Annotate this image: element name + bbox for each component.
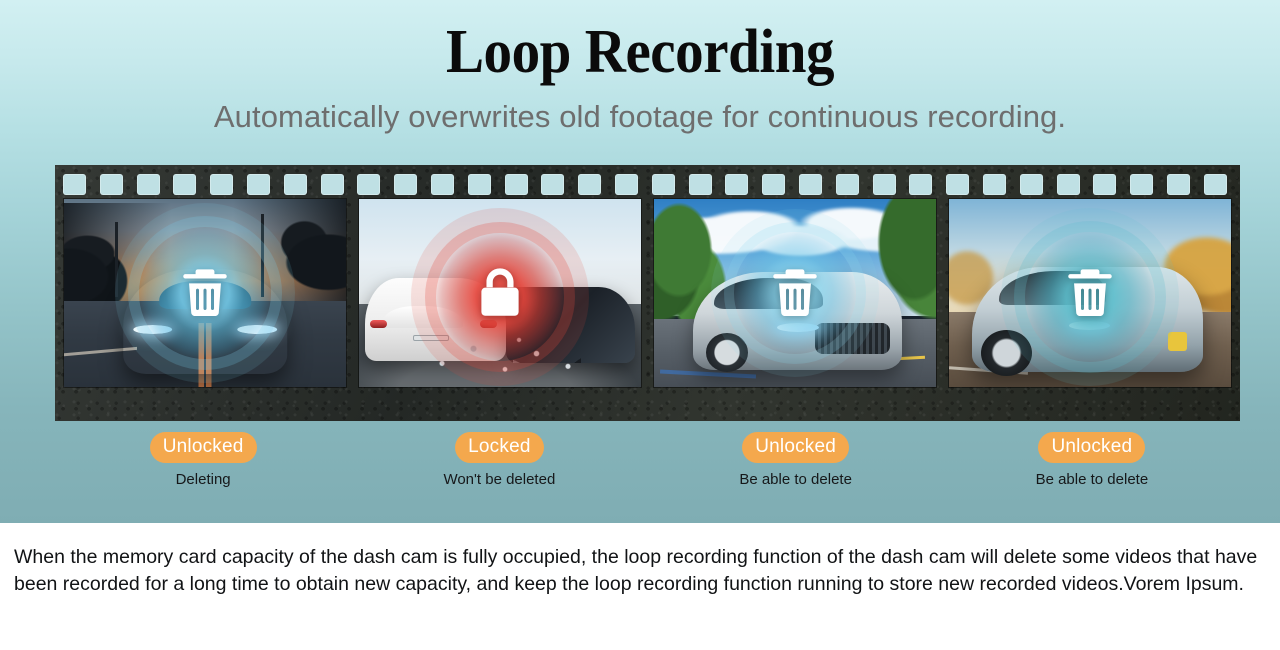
sprocket-hole <box>762 174 785 195</box>
sprocket-hole <box>725 174 748 195</box>
film-frame-1[interactable] <box>64 199 346 387</box>
headlight-right <box>238 325 277 334</box>
page-title: Loop Recording <box>51 18 1229 86</box>
lock-icon <box>470 263 530 323</box>
loop-recording-infographic: Loop Recording Automatically overwrites … <box>0 0 1280 650</box>
sprocket-hole <box>1057 174 1080 195</box>
sprocket-hole <box>505 174 528 195</box>
street-pole <box>115 222 118 297</box>
status-badge: Locked <box>455 432 543 463</box>
headlight-left <box>133 325 172 334</box>
sprocket-hole <box>210 174 233 195</box>
film-frame-2[interactable] <box>359 199 641 387</box>
sprocket-row-top <box>55 171 1240 197</box>
sprocket-hole <box>284 174 307 195</box>
trash-icon <box>765 263 825 323</box>
headlight <box>777 323 819 332</box>
trash-icon <box>175 263 235 323</box>
sprocket-hole <box>578 174 601 195</box>
sprocket-hole <box>431 174 454 195</box>
status-badge: Unlocked <box>742 432 849 463</box>
caption-text: Won't be deleted <box>443 471 555 489</box>
frame-captions: Unlocked Deleting Locked Won't be delete… <box>55 432 1240 492</box>
sprocket-hole <box>615 174 638 195</box>
description-paragraph: When the memory card capacity of the das… <box>14 544 1266 598</box>
sprocket-hole <box>1167 174 1190 195</box>
sprocket-hole <box>909 174 932 195</box>
taillight-left <box>370 320 387 327</box>
bumper-accent <box>1168 332 1186 351</box>
sprocket-hole <box>689 174 712 195</box>
sprocket-hole <box>873 174 896 195</box>
sprocket-hole <box>173 174 196 195</box>
film-frame-4[interactable] <box>949 199 1231 387</box>
debris <box>421 334 596 383</box>
caption-text: Be able to delete <box>1036 471 1149 489</box>
filmstrip <box>55 165 1240 421</box>
status-badge: Unlocked <box>1038 432 1145 463</box>
front-wheel <box>981 330 1032 376</box>
description-section: When the memory card capacity of the das… <box>0 523 1280 650</box>
sprocket-hole <box>946 174 969 195</box>
sprocket-hole <box>983 174 1006 195</box>
page-subtitle: Automatically overwrites old footage for… <box>0 98 1280 136</box>
sprocket-hole <box>1204 174 1227 195</box>
sprocket-hole <box>1130 174 1153 195</box>
sprocket-hole <box>799 174 822 195</box>
caption-1: Unlocked Deleting <box>55 432 351 492</box>
sprocket-hole <box>357 174 380 195</box>
sprocket-hole <box>1093 174 1116 195</box>
sprocket-hole <box>836 174 859 195</box>
sprocket-hole <box>1020 174 1043 195</box>
trash-icon <box>1060 263 1120 323</box>
sprocket-hole <box>63 174 86 195</box>
front-grille <box>815 323 890 354</box>
caption-2: Locked Won't be deleted <box>351 432 647 492</box>
car-roof <box>382 306 464 328</box>
caption-text: Deleting <box>176 471 231 489</box>
sprocket-hole <box>321 174 344 195</box>
status-badge: Unlocked <box>150 432 257 463</box>
hero-section: Loop Recording Automatically overwrites … <box>0 0 1280 523</box>
sprocket-hole <box>541 174 564 195</box>
sprocket-hole <box>468 174 491 195</box>
sprocket-hole <box>652 174 675 195</box>
sprocket-hole <box>137 174 160 195</box>
film-frames <box>64 199 1231 387</box>
sprocket-hole <box>100 174 123 195</box>
caption-4: Unlocked Be able to delete <box>944 432 1240 492</box>
front-wheel <box>706 333 748 372</box>
film-frame-3[interactable] <box>654 199 936 387</box>
sprocket-hole <box>247 174 270 195</box>
caption-3: Unlocked Be able to delete <box>648 432 944 492</box>
caption-text: Be able to delete <box>739 471 852 489</box>
sprocket-hole <box>394 174 417 195</box>
